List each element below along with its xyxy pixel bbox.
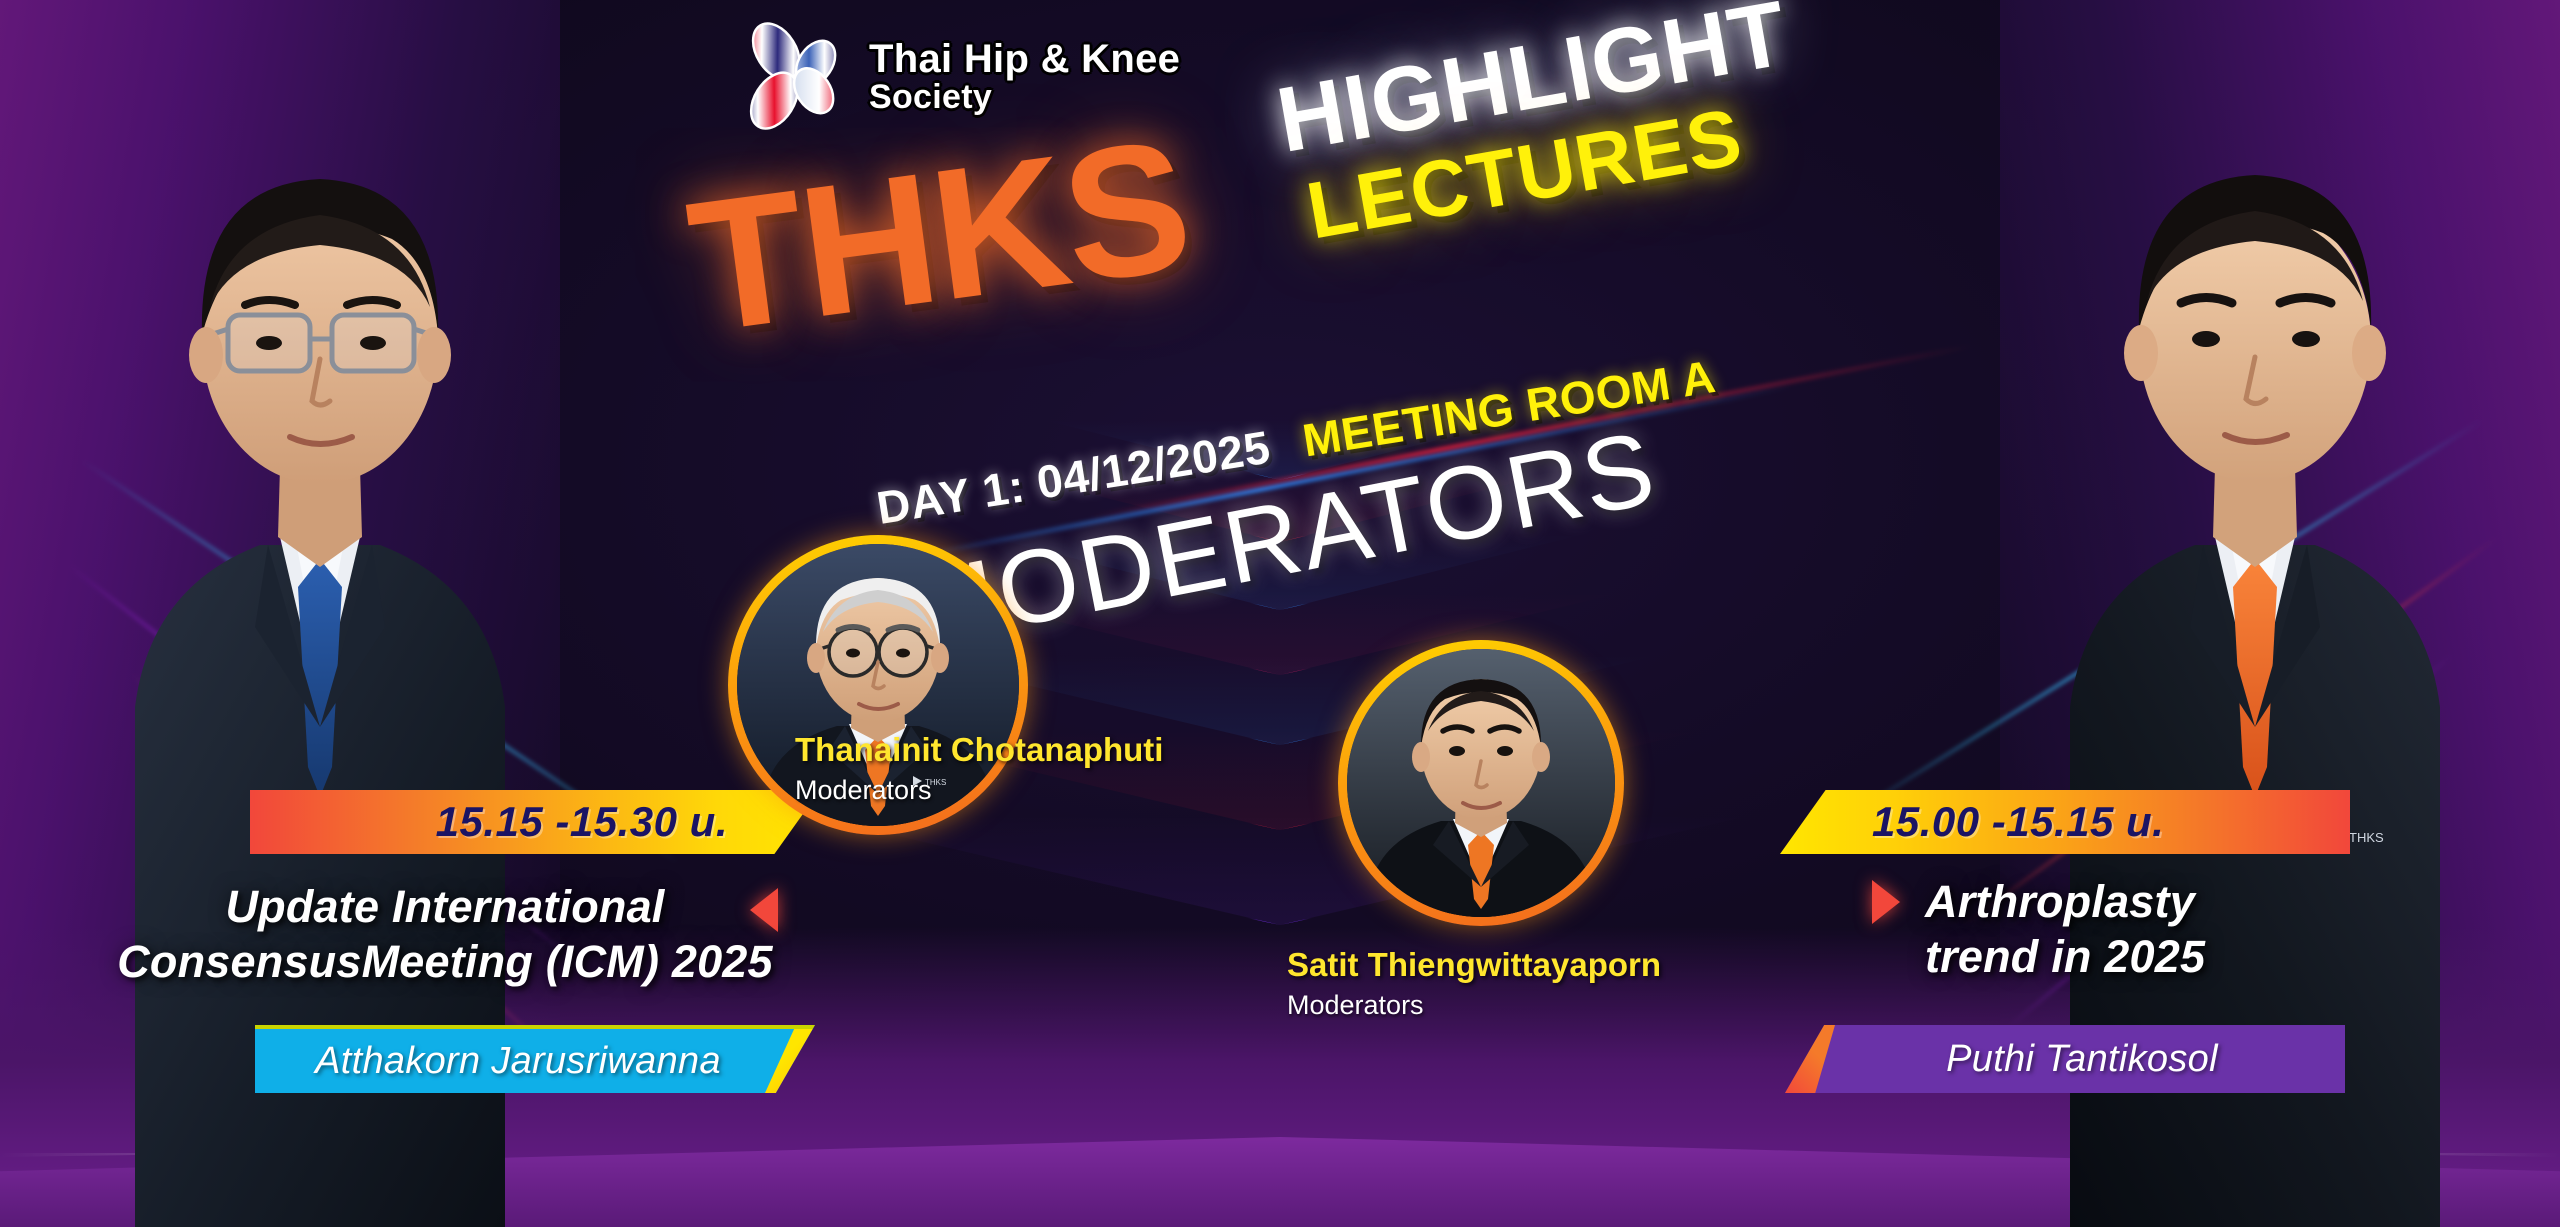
speaker-name-badge-right: Puthi Tantikosol — [1785, 1025, 2345, 1093]
speaker-name-badge-left: Atthakorn Jarusriwanna — [255, 1025, 815, 1093]
thks-butterfly-logo-icon — [735, 18, 853, 136]
moderator-label-1: Thanainit Chotanaphuti Moderators — [955, 715, 1163, 806]
arrow-pointer-right-icon — [1872, 880, 1900, 924]
moderator-card-2 — [1338, 640, 1624, 926]
session-title-left-line2: ConsensusMeeting (ICM) 2025 — [100, 935, 790, 990]
thks-logo: Thai Hip & Knee Society — [735, 18, 1180, 136]
moderator-name-1: Thanainit Chotanaphuti — [795, 731, 1163, 769]
session-title-right-line1: Arthroplasty — [1925, 875, 2445, 930]
session-title-right-line2: trend in 2025 — [1925, 930, 2445, 985]
session-title-right: Arthroplasty trend in 2025 — [1925, 875, 2445, 985]
moderator-name-2: Satit Thiengwittayaporn — [1287, 946, 1661, 984]
logo-text-line2: Society — [869, 80, 1180, 115]
moderator-role-1: Moderators — [795, 775, 1163, 806]
session-title-left-line1: Update International — [100, 880, 790, 935]
session-time-right: 15.00 -15.15 u. — [1780, 790, 2350, 854]
moderator-label-2: Satit Thiengwittayaporn Moderators — [1472, 930, 1661, 1021]
session-title-left: Update International ConsensusMeeting (I… — [100, 880, 790, 990]
speaker-name-left: Atthakorn Jarusriwanna — [315, 1040, 721, 1083]
poster-stage: THKS — [0, 0, 2560, 1227]
speaker-name-right: Puthi Tantikosol — [1946, 1038, 2218, 1081]
logo-text-line1: Thai Hip & Knee — [869, 39, 1180, 80]
moderator-role-2: Moderators — [1287, 990, 1661, 1021]
moderator-avatar-2 — [1347, 649, 1615, 917]
moderator-avatar-ring-2 — [1338, 640, 1624, 926]
